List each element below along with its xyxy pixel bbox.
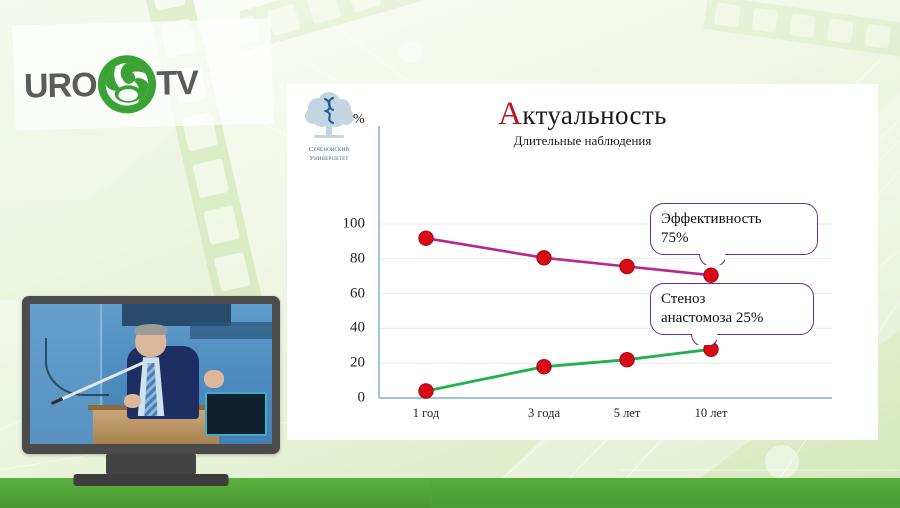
logo-text-uro: URO xyxy=(24,65,97,106)
stenosis-callout: Стеноз анастомоза 25% xyxy=(650,283,814,335)
line-chart xyxy=(287,84,878,440)
video-screen[interactable] xyxy=(30,304,272,444)
monitor-stand-neck xyxy=(106,454,196,474)
chart-axes xyxy=(379,126,832,398)
x-tick-label: 5 лет xyxy=(614,406,641,421)
uro-tv-circle-logo-icon xyxy=(95,53,158,116)
data-point xyxy=(537,251,551,265)
data-point xyxy=(419,231,433,245)
efficacy-callout-line1: Эффективность xyxy=(661,210,807,229)
presentation-slide: Сеченовский Университет % Актуальность Д… xyxy=(287,84,878,440)
data-point xyxy=(620,259,634,273)
y-tick-label: 0 xyxy=(329,390,365,407)
monitor-stand-base xyxy=(74,474,229,486)
data-point xyxy=(704,268,718,282)
video-speaker-hair xyxy=(135,324,168,335)
y-tick-label: 20 xyxy=(329,355,365,372)
stenosis-callout-tail xyxy=(691,334,717,345)
video-monitor[interactable] xyxy=(22,296,280,454)
video-laptop xyxy=(205,392,267,435)
x-tick-label: 1 год xyxy=(413,406,439,421)
efficacy-callout-tail xyxy=(699,254,725,265)
stenosis-callout-line1: Стеноз xyxy=(661,290,803,309)
logo-text-tv: TV xyxy=(156,63,198,103)
data-point xyxy=(537,360,551,374)
y-tick-label: 40 xyxy=(329,320,365,337)
video-dark-screen-top-right xyxy=(190,322,272,339)
efficacy-callout: Эффективность 75% xyxy=(650,203,818,255)
data-point xyxy=(419,384,433,398)
video-speaker-hand-left xyxy=(124,394,141,408)
x-tick-label: 3 года xyxy=(528,406,560,421)
stenosis-callout-line2: анастомоза 25% xyxy=(661,309,803,328)
x-tick-label: 10 лет xyxy=(695,406,728,421)
screenshot-root: URO TV xyxy=(0,0,900,508)
y-tick-label: 100 xyxy=(329,216,365,233)
efficacy-callout-line2: 75% xyxy=(661,229,807,248)
data-point xyxy=(620,353,634,367)
video-speaker-hand-right xyxy=(204,370,223,388)
y-tick-label: 60 xyxy=(329,285,365,302)
series-stenosis xyxy=(419,342,718,398)
uro-tv-logo[interactable]: URO TV xyxy=(23,49,264,118)
y-tick-label: 80 xyxy=(329,250,365,267)
